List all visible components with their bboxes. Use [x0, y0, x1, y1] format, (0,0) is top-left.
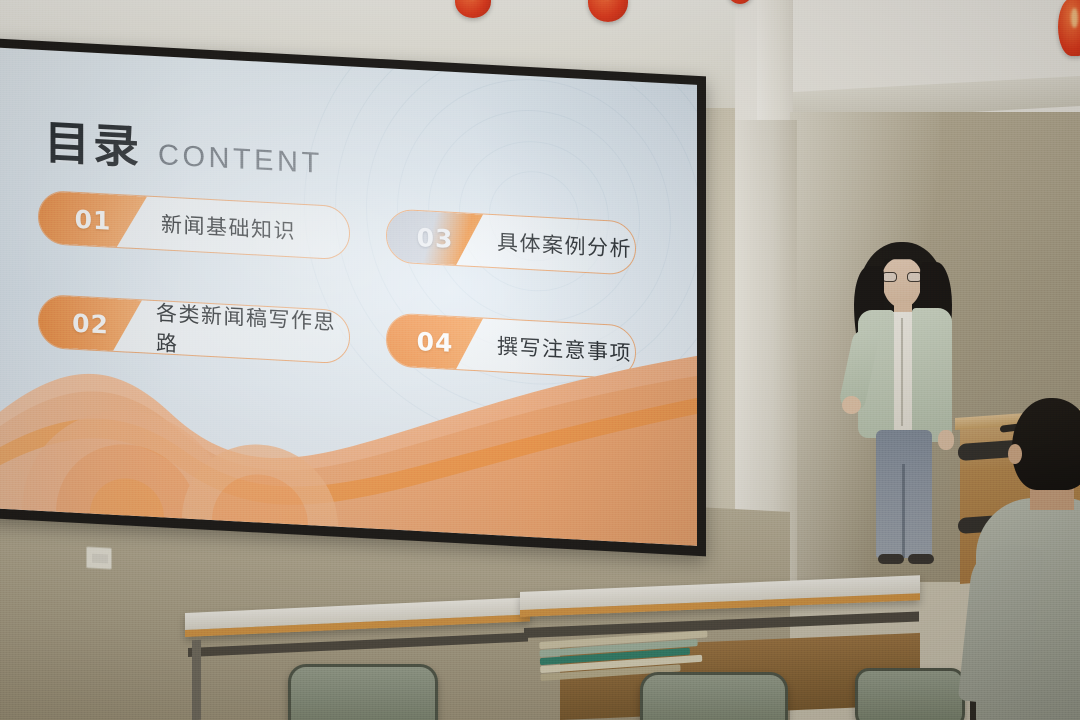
presenter	[838, 244, 968, 564]
wave-svg	[0, 298, 697, 545]
red-hanging-decoration-icon	[1058, 0, 1080, 56]
student-hair	[1012, 398, 1080, 490]
slide-title-cn: 目录	[44, 106, 142, 177]
slide-title: 目录 CONTENT	[44, 106, 323, 187]
presenter-jeans	[876, 430, 932, 558]
agenda-number-badge: 01	[39, 191, 147, 249]
presenter-right-hand	[938, 430, 954, 450]
agenda-item-03[interactable]: 03 具体案例分析	[386, 208, 636, 275]
projection-screen: 目录 CONTENT 01 新闻基础知识 03 具体案例分析	[0, 38, 706, 556]
presenter-shoe	[878, 554, 904, 564]
seated-student	[960, 398, 1080, 720]
agenda-row-1: 01 新闻基础知识 03 具体案例分析	[38, 190, 650, 277]
presenter-cardigan-right	[912, 308, 952, 442]
classroom-photo-scene: 目录 CONTENT 01 新闻基础知识 03 具体案例分析	[0, 0, 1080, 720]
glasses-icon	[882, 272, 922, 282]
agenda-number-badge: 03	[387, 209, 483, 266]
classroom-chair	[640, 672, 788, 720]
presenter-shoe	[908, 554, 934, 564]
wall-plate-icon	[86, 546, 112, 569]
presenter-left-hand	[842, 396, 861, 414]
slide-surface: 目录 CONTENT 01 新闻基础知识 03 具体案例分析	[0, 47, 697, 545]
student-ear	[1008, 444, 1022, 464]
agenda-item-01[interactable]: 01 新闻基础知识	[38, 190, 350, 261]
classroom-chair	[855, 668, 965, 720]
agenda-item-label: 具体案例分析	[483, 225, 632, 263]
agenda-item-label: 新闻基础知识	[147, 208, 296, 246]
desk-leg	[192, 640, 201, 720]
slide-wave-decoration	[0, 298, 697, 545]
classroom-chair	[288, 664, 438, 720]
slide-title-en: CONTENT	[158, 139, 323, 181]
